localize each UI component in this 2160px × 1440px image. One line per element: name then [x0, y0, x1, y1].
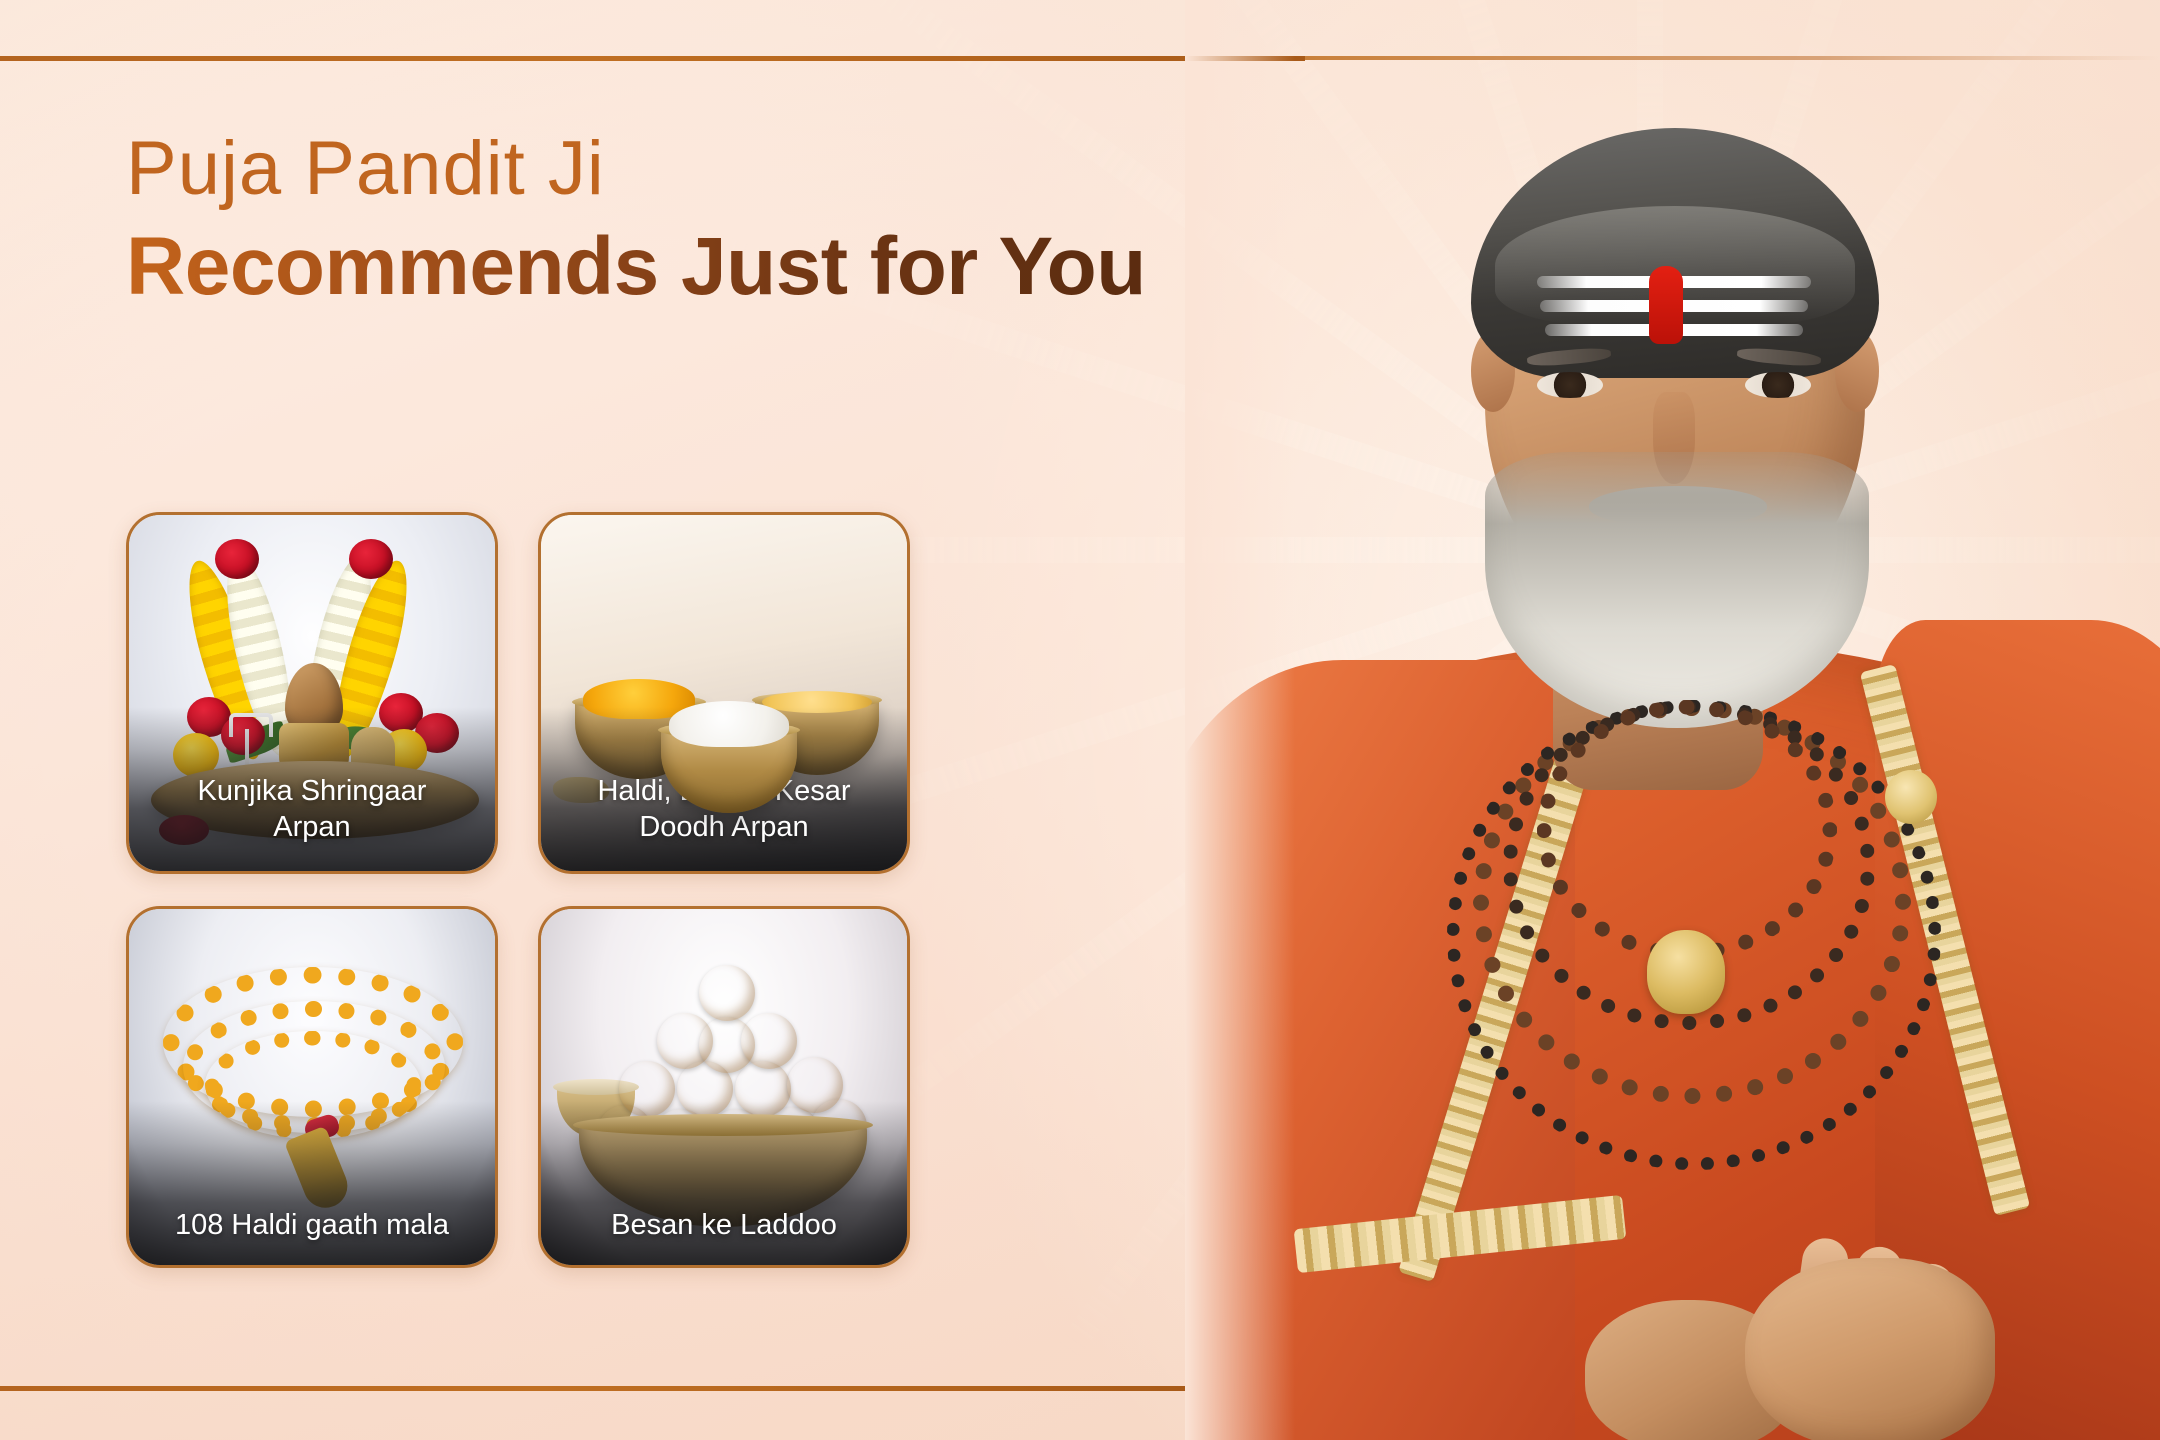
recommendation-card-besan-ke-laddoo[interactable]: Besan ke Laddoo	[538, 906, 910, 1268]
portrait-left-fade	[1185, 0, 1295, 1440]
recommendation-card-haldi-dahi-kesar-doodh-arpan[interactable]: Haldi, Dahi & Kesar Doodh Arpan	[538, 512, 910, 874]
recommendation-card-108-haldi-gaath-mala[interactable]: 108 Haldi gaath mala	[126, 906, 498, 1268]
red-tilak-icon	[1649, 266, 1683, 344]
banner-stage: Puja Pandit Ji Recommends Just for You	[0, 0, 2160, 1440]
recommendation-grid: Kunjika Shringaar Arpan Haldi, Dahi & Ke…	[126, 512, 910, 1268]
rudraksha-mala-inner	[1537, 700, 1837, 960]
recommendation-card-label: Kunjika Shringaar Arpan	[129, 773, 495, 846]
gold-bead-icon	[1885, 770, 1937, 824]
recommendation-card-label: Besan ke Laddoo	[541, 1207, 907, 1243]
recommendation-card-label: 108 Haldi gaath mala	[129, 1207, 495, 1243]
banner-kicker: Puja Pandit Ji	[126, 128, 1146, 210]
banner-headline: Recommends Just for You	[126, 224, 1146, 311]
eye-right	[1745, 372, 1811, 398]
recommendation-card-kunjika-shringaar-arpan[interactable]: Kunjika Shringaar Arpan	[126, 512, 498, 874]
banner-heading-block: Puja Pandit Ji Recommends Just for You	[126, 128, 1146, 311]
pandit-portrait	[1185, 0, 2160, 1440]
eye-left	[1537, 372, 1603, 398]
bottom-divider-rule	[0, 1386, 1195, 1391]
gold-pendant-icon	[1647, 930, 1725, 1014]
hand-right-mudra	[1745, 1258, 1995, 1440]
top-divider-rule	[0, 56, 1305, 61]
